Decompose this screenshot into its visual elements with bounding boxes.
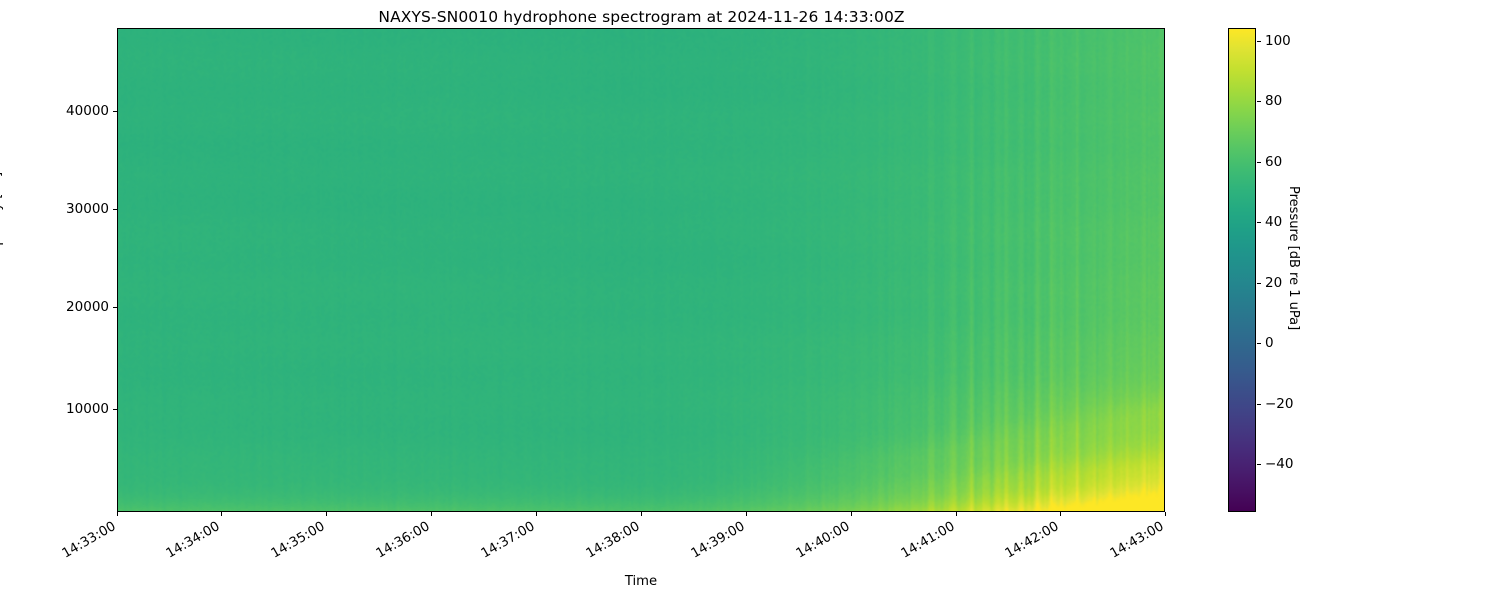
- x-tick-mark: [536, 512, 537, 516]
- colorbar-tick-label: 0: [1265, 335, 1274, 351]
- x-tick-mark: [117, 512, 118, 516]
- colorbar-tick-label: 100: [1265, 33, 1291, 49]
- x-tick-mark: [851, 512, 852, 516]
- figure-canvas: NAXYS-SN0010 hydrophone spectrogram at 2…: [0, 0, 1500, 600]
- x-tick-mark: [221, 512, 222, 516]
- colorbar-tick-label: 60: [1265, 154, 1282, 170]
- colorbar-tick-mark: [1257, 404, 1261, 405]
- colorbar-tick-mark: [1257, 343, 1261, 344]
- colorbar-tick-mark: [1257, 101, 1261, 102]
- y-tick-mark: [113, 209, 117, 210]
- x-tick-label: 14:33:00: [60, 519, 119, 562]
- y-tick-mark: [113, 409, 117, 410]
- colorbar: [1228, 28, 1256, 512]
- x-tick-label: 14:35:00: [269, 519, 328, 562]
- x-tick-label: 14:43:00: [1108, 519, 1167, 562]
- y-tick-mark: [113, 307, 117, 308]
- y-tick-label: 40000: [66, 103, 109, 119]
- chart-title: NAXYS-SN0010 hydrophone spectrogram at 2…: [0, 8, 1283, 26]
- colorbar-tick-label: 40: [1265, 214, 1282, 230]
- colorbar-gradient: [1229, 29, 1255, 511]
- y-tick-mark: [113, 111, 117, 112]
- colorbar-tick-label: −20: [1265, 396, 1294, 412]
- y-axis-label: Frequency [Hz]: [0, 172, 4, 270]
- x-tick-mark: [746, 512, 747, 516]
- x-tick-label: 14:36:00: [374, 519, 433, 562]
- x-tick-mark: [431, 512, 432, 516]
- colorbar-tick-label: 80: [1265, 93, 1282, 109]
- x-tick-label: 14:40:00: [794, 519, 853, 562]
- spectrogram-plot-area: [117, 28, 1165, 512]
- x-axis-label: Time: [117, 574, 1165, 589]
- colorbar-tick-mark: [1257, 283, 1261, 284]
- x-tick-label: 14:34:00: [164, 519, 223, 562]
- colorbar-tick-mark: [1257, 222, 1261, 223]
- colorbar-label: Pressure [dB re 1 uPa]: [1286, 186, 1301, 330]
- colorbar-tick-label: 20: [1265, 275, 1282, 291]
- x-tick-label: 14:42:00: [1003, 519, 1062, 562]
- x-tick-label: 14:38:00: [584, 519, 643, 562]
- x-tick-mark: [956, 512, 957, 516]
- y-tick-label: 30000: [66, 201, 109, 217]
- spectrogram-image: [118, 29, 1164, 511]
- x-tick-mark: [1060, 512, 1061, 516]
- colorbar-tick-label: −40: [1265, 456, 1294, 472]
- x-tick-label: 14:41:00: [899, 519, 958, 562]
- colorbar-tick-mark: [1257, 464, 1261, 465]
- colorbar-tick-mark: [1257, 162, 1261, 163]
- y-tick-label: 10000: [66, 401, 109, 417]
- x-tick-mark: [641, 512, 642, 516]
- x-tick-label: 14:39:00: [689, 519, 748, 562]
- colorbar-tick-mark: [1257, 41, 1261, 42]
- y-tick-label: 20000: [66, 299, 109, 315]
- x-tick-mark: [326, 512, 327, 516]
- x-tick-label: 14:37:00: [479, 519, 538, 562]
- x-tick-mark: [1165, 512, 1166, 516]
